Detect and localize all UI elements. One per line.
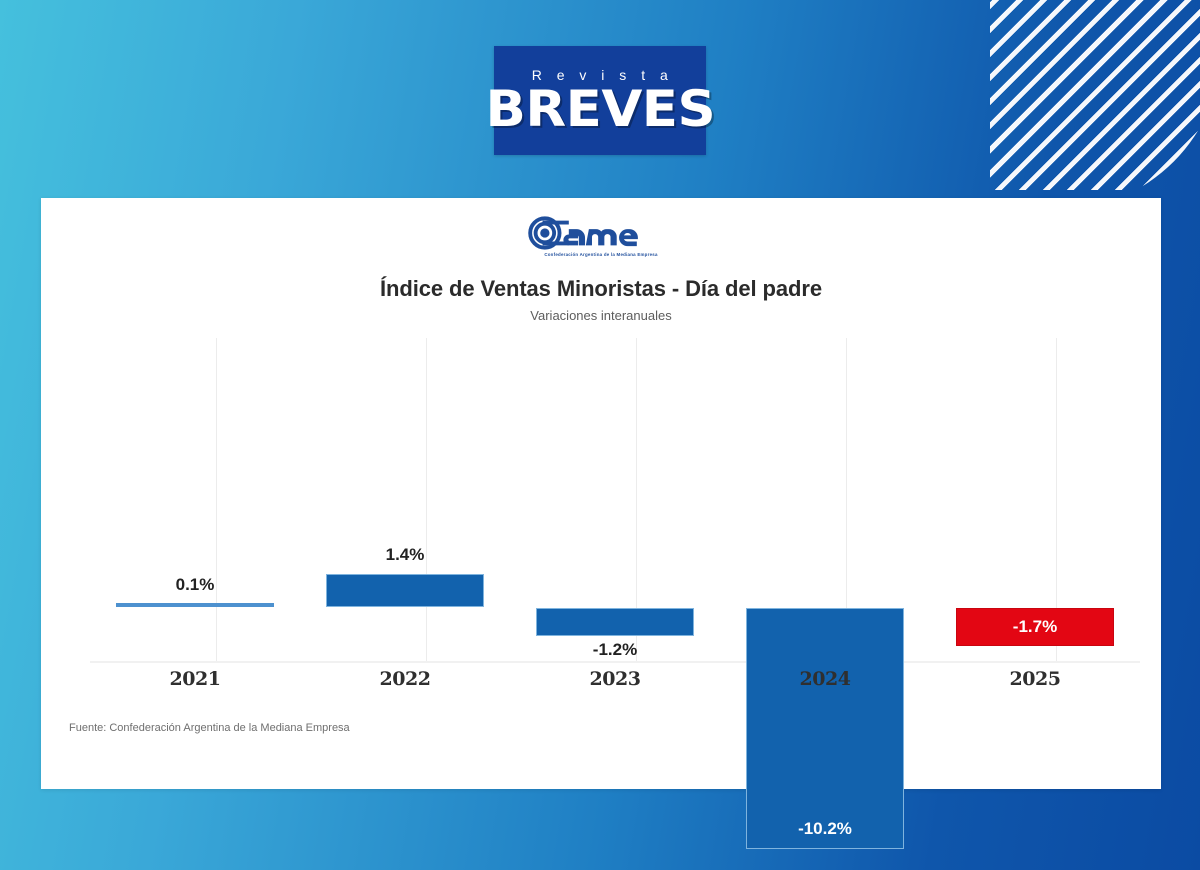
chart-title: Índice de Ventas Minoristas - Día del pa… (41, 276, 1161, 302)
bar-label-2025: -1.7% (956, 617, 1114, 637)
x-tick-2022: 2022 (345, 668, 465, 690)
x-tick-2024: 2024 (765, 668, 885, 690)
bar-label-2022: 1.4% (326, 545, 484, 565)
striped-corner-decoration (990, 0, 1200, 190)
x-tick-2025: 2025 (975, 668, 1095, 690)
gridline (216, 338, 217, 663)
brand-wordmark: BREVES (485, 85, 715, 134)
bar-2022[interactable] (326, 574, 484, 607)
x-tick-2023: 2023 (555, 668, 675, 690)
bar-label-2024: -10.2% (746, 819, 904, 839)
came-logo-subtitle: Confederación Argentina de la Mediana Em… (506, 252, 696, 257)
came-wordmark-icon (524, 216, 679, 250)
chart-source-note: Fuente: Confederación Argentina de la Me… (69, 722, 350, 734)
revista-breves-logo: R e v i s t a BREVES (494, 46, 706, 155)
came-logo: Confederación Argentina de la Mediana Em… (506, 216, 696, 257)
gridline (426, 338, 427, 663)
chart-subtitle: Variaciones interanuales (41, 308, 1161, 323)
striped-quarter-circle (990, 0, 1200, 190)
x-axis-labels: 2021 2022 2023 2024 2025 (90, 668, 1140, 698)
bar-2023[interactable] (536, 608, 694, 636)
bar-2024[interactable] (746, 608, 904, 849)
bar-label-2021: 0.1% (116, 575, 274, 595)
bar-label-2023: -1.2% (536, 640, 694, 660)
chart-card: Confederación Argentina de la Mediana Em… (41, 198, 1161, 789)
x-tick-2021: 2021 (135, 668, 255, 690)
poster-canvas: R e v i s t a BREVES Confederación (0, 0, 1200, 870)
bar-2021[interactable] (116, 603, 274, 607)
x-axis-line (90, 661, 1140, 663)
chart-plot-area: 0.1% 1.4% -1.2% -10.2% -1.7% (90, 338, 1140, 663)
